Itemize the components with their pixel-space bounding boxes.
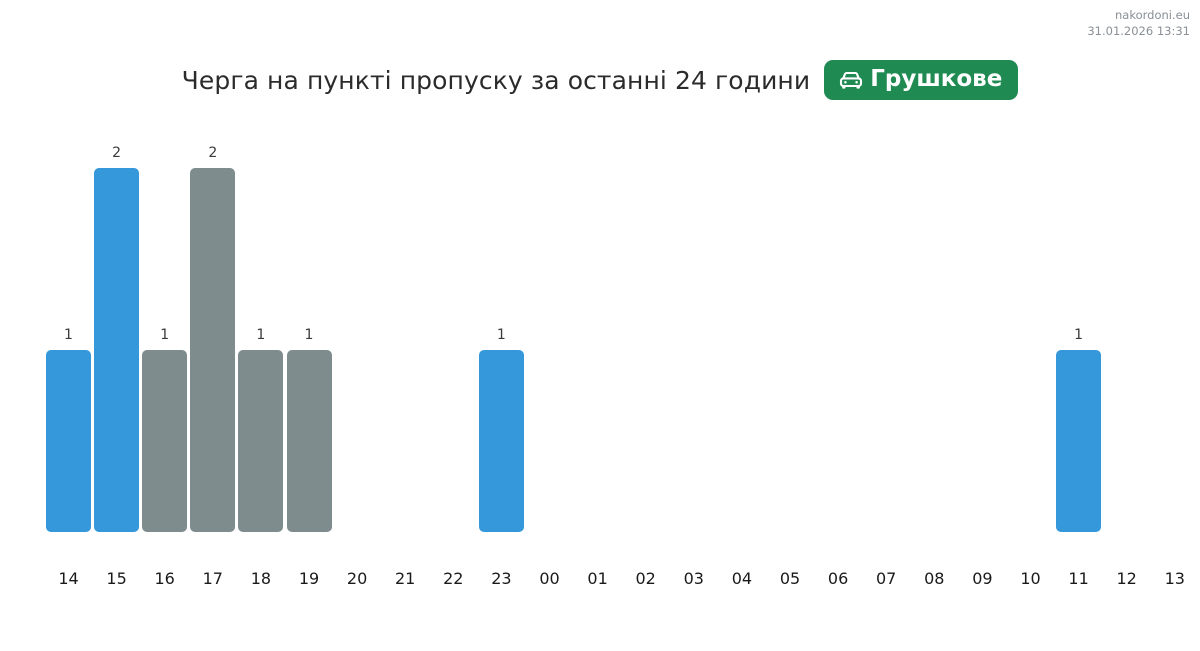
watermark: nakordoni.eu 31.01.2026 13:31 <box>1087 8 1190 39</box>
x-tick-label: 08 <box>912 568 957 590</box>
x-tick-label: 04 <box>719 568 764 590</box>
x-tick-label: 14 <box>46 568 91 590</box>
x-tick-label: 21 <box>383 568 428 590</box>
bar-column <box>1152 140 1197 532</box>
x-tick-label: 00 <box>527 568 572 590</box>
checkpoint-badge[interactable]: Грушкове <box>824 60 1018 100</box>
x-tick-label: 11 <box>1056 568 1101 590</box>
bar-value-label: 1 <box>46 328 91 342</box>
x-tick-label: 19 <box>287 568 332 590</box>
x-tick-label: 17 <box>190 568 235 590</box>
bar-value-label: 1 <box>479 328 524 342</box>
bar-column: 1 <box>46 140 91 532</box>
bar-value-label: 2 <box>190 146 235 160</box>
bar-column <box>623 140 668 532</box>
x-tick-label: 02 <box>623 568 668 590</box>
bar[interactable] <box>46 350 91 532</box>
x-tick-label: 18 <box>238 568 283 590</box>
x-tick-label: 12 <box>1104 568 1149 590</box>
bar-value-label: 1 <box>142 328 187 342</box>
bar-column <box>527 140 572 532</box>
bar-column <box>960 140 1005 532</box>
page-title: Черга на пункті пропуску за останні 24 г… <box>182 66 811 95</box>
x-tick-label: 10 <box>1008 568 1053 590</box>
bar[interactable] <box>1056 350 1101 532</box>
bar-column <box>719 140 764 532</box>
bar[interactable] <box>238 350 283 532</box>
bar-column <box>1104 140 1149 532</box>
bar-column <box>335 140 380 532</box>
x-tick-label: 16 <box>142 568 187 590</box>
bar-value-label: 1 <box>287 328 332 342</box>
x-tick-label: 22 <box>431 568 476 590</box>
watermark-site: nakordoni.eu <box>1087 8 1190 24</box>
bar-column <box>383 140 428 532</box>
bar-column: 1 <box>479 140 524 532</box>
bar-column <box>671 140 716 532</box>
bar[interactable] <box>142 350 187 532</box>
bar-column <box>1008 140 1053 532</box>
x-tick-label: 20 <box>335 568 380 590</box>
bar-column: 1 <box>142 140 187 532</box>
checkpoint-badge-label: Грушкове <box>870 68 1002 91</box>
bar[interactable] <box>94 168 139 532</box>
x-tick-label: 23 <box>479 568 524 590</box>
bar-value-label: 1 <box>238 328 283 342</box>
x-tick-label: 15 <box>94 568 139 590</box>
x-tick-label: 03 <box>671 568 716 590</box>
x-tick-label: 05 <box>768 568 813 590</box>
bar[interactable] <box>479 350 524 532</box>
x-axis-tick-labels: 1415161718192021222300010203040506070809… <box>46 568 1154 594</box>
bar-column: 2 <box>94 140 139 532</box>
x-tick-label: 01 <box>575 568 620 590</box>
bar-column: 1 <box>238 140 283 532</box>
bar-chart-plot-area: 12121111 <box>46 140 1154 532</box>
bar-column: 1 <box>1056 140 1101 532</box>
bar[interactable] <box>287 350 332 532</box>
bar-value-label: 2 <box>94 146 139 160</box>
watermark-timestamp: 31.01.2026 13:31 <box>1087 24 1190 40</box>
bar-column: 1 <box>287 140 332 532</box>
bar-column: 2 <box>190 140 235 532</box>
chart-header: Черга на пункті пропуску за останні 24 г… <box>0 56 1200 104</box>
car-icon <box>838 69 864 91</box>
x-tick-label: 07 <box>864 568 909 590</box>
x-tick-label: 09 <box>960 568 1005 590</box>
bar[interactable] <box>190 168 235 532</box>
bar-column <box>864 140 909 532</box>
x-tick-label: 13 <box>1152 568 1197 590</box>
x-tick-label: 06 <box>816 568 861 590</box>
bar-column <box>912 140 957 532</box>
bar-column <box>768 140 813 532</box>
bar-column <box>575 140 620 532</box>
bar-value-label: 1 <box>1056 328 1101 342</box>
bar-column <box>431 140 476 532</box>
bar-column <box>816 140 861 532</box>
